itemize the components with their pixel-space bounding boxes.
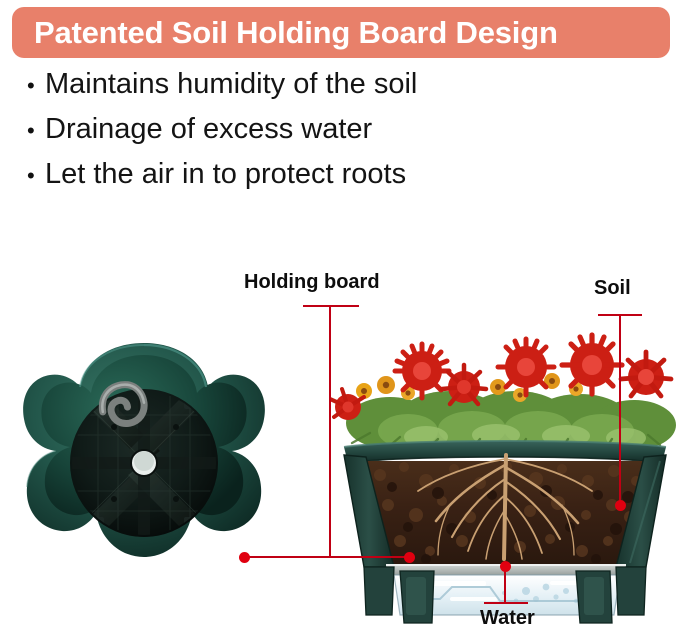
leader-line-water-bar: [484, 602, 528, 604]
leader-dot-water: [500, 561, 511, 572]
leader-line-soil-stem: [619, 314, 621, 507]
callout-label-holding-board: Holding board: [244, 271, 380, 294]
leader-line-holding-board-stem: [329, 305, 331, 557]
holding-board-product-image: [18, 335, 270, 587]
bullet-icon: •: [27, 165, 45, 187]
pot-body: [344, 455, 666, 567]
list-item: • Drainage of excess water: [27, 115, 627, 160]
leader-line-holding-board-bar: [303, 305, 359, 307]
list-item: • Maintains humidity of the soil: [27, 70, 627, 115]
list-item: • Let the air in to protect roots: [27, 160, 627, 205]
feature-text: Let the air in to protect roots: [45, 160, 406, 189]
page-title: Patented Soil Holding Board Design: [12, 15, 558, 51]
leader-dot-holding-board-tray: [239, 552, 250, 563]
header-banner: Patented Soil Holding Board Design: [12, 7, 670, 58]
leader-dot-soil: [615, 500, 626, 511]
product-diagram: Holding board Soil Water: [0, 255, 679, 638]
feature-bullet-list: • Maintains humidity of the soil • Drain…: [27, 70, 627, 205]
callout-label-soil: Soil: [594, 277, 631, 300]
callout-label-water: Water: [480, 607, 535, 630]
bullet-icon: •: [27, 120, 45, 142]
leader-dot-holding-board-planter: [404, 552, 415, 563]
flower-cluster: [330, 335, 676, 452]
leader-line-holding-board-cross: [246, 556, 411, 558]
leader-line-water-stem: [504, 570, 506, 603]
feature-text: Drainage of excess water: [45, 115, 372, 144]
bullet-icon: •: [27, 75, 45, 97]
infographic-page: Patented Soil Holding Board Design • Mai…: [0, 0, 679, 638]
feature-text: Maintains humidity of the soil: [45, 70, 417, 99]
